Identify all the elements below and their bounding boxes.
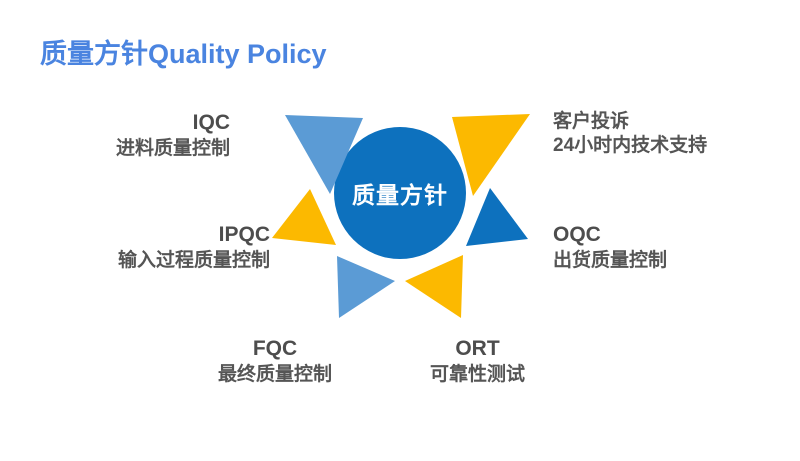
node-code-oqc: OQC bbox=[553, 222, 667, 249]
quality-policy-diagram: 质量方针 IQC 进料质量控制 IPQC 输入过程质量控制 客户投诉 24小时内… bbox=[0, 0, 800, 456]
node-desc-ort: 可靠性测试 bbox=[430, 363, 525, 387]
triangle-right-icon[interactable] bbox=[466, 188, 528, 246]
node-label-ort[interactable]: ORT 可靠性测试 bbox=[430, 336, 525, 387]
node-desc-iqc: 进料质量控制 bbox=[116, 137, 230, 161]
node-label-iqc[interactable]: IQC 进料质量控制 bbox=[116, 110, 230, 161]
node-label-fqc[interactable]: FQC 最终质量控制 bbox=[218, 336, 332, 387]
triangle-left-icon[interactable] bbox=[272, 189, 336, 245]
node-code-iqc: IQC bbox=[116, 110, 230, 137]
node-code-ort: ORT bbox=[430, 336, 525, 363]
node-code-ipqc: IPQC bbox=[118, 222, 270, 249]
hub-circle[interactable] bbox=[334, 127, 466, 259]
node-desc-customer-complaint: 24小时内技术支持 bbox=[553, 134, 707, 158]
triangle-bottom-left-icon[interactable] bbox=[337, 256, 395, 318]
node-code-customer-complaint: 客户投诉 bbox=[553, 110, 707, 134]
node-label-ipqc[interactable]: IPQC 输入过程质量控制 bbox=[118, 222, 270, 273]
node-desc-ipqc: 输入过程质量控制 bbox=[118, 249, 270, 273]
triangle-bottom-right-icon[interactable] bbox=[405, 255, 463, 318]
node-desc-fqc: 最终质量控制 bbox=[218, 363, 332, 387]
node-code-fqc: FQC bbox=[218, 336, 332, 363]
slide-canvas: 质量方针Quality Policy 质量方针 IQC 进料质量控制 bbox=[0, 0, 800, 456]
node-label-oqc[interactable]: OQC 出货质量控制 bbox=[553, 222, 667, 273]
node-desc-oqc: 出货质量控制 bbox=[553, 249, 667, 273]
node-label-customer-complaint[interactable]: 客户投诉 24小时内技术支持 bbox=[553, 110, 707, 159]
